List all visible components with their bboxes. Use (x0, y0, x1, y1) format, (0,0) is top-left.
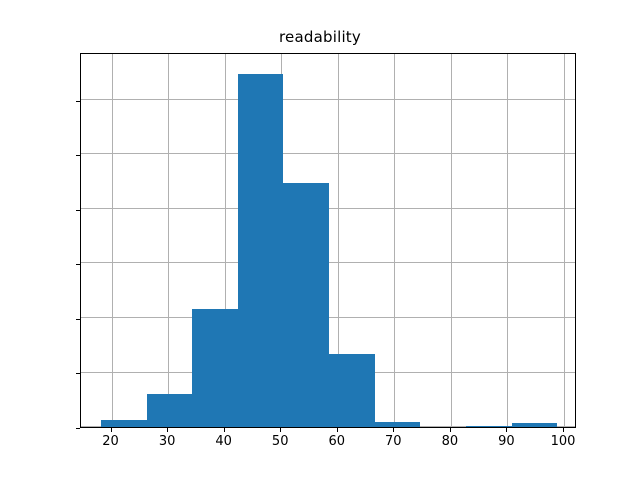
x-tick-mark (280, 428, 281, 432)
x-tick-mark (337, 428, 338, 432)
x-tick-label: 90 (498, 434, 515, 449)
gridline-x-30 (168, 54, 169, 427)
gridline-x-80 (451, 54, 452, 427)
x-tick-label: 60 (328, 434, 345, 449)
histogram-bar (512, 423, 557, 427)
histogram-bar (238, 74, 283, 427)
gridline-y-250 (81, 153, 575, 154)
x-tick-label: 100 (551, 434, 576, 449)
chart-title: readability (0, 28, 640, 46)
x-tick-mark (224, 428, 225, 432)
x-tick-mark (450, 428, 451, 432)
histogram-bar (375, 422, 420, 427)
figure-canvas: readability 050100150200250300 203040506… (0, 0, 640, 480)
x-tick-label: 40 (215, 434, 232, 449)
histogram-bar (283, 183, 329, 427)
x-tick-mark (393, 428, 394, 432)
plot-area (80, 53, 576, 428)
x-tick-mark (506, 428, 507, 432)
gridline-x-100 (564, 54, 565, 427)
x-tick-label: 50 (272, 434, 289, 449)
gridline-x-90 (507, 54, 508, 427)
x-tick-label: 80 (442, 434, 459, 449)
histogram-bar (192, 309, 238, 427)
x-tick-label: 70 (385, 434, 402, 449)
gridline-x-70 (394, 54, 395, 427)
x-tick-label: 20 (102, 434, 119, 449)
x-tick-label: 30 (159, 434, 176, 449)
x-tick-mark (167, 428, 168, 432)
histogram-bar (147, 394, 193, 427)
gridline-y-300 (81, 99, 575, 100)
histogram-bar (329, 354, 375, 427)
histogram-bar (466, 426, 512, 427)
gridline-x-20 (112, 54, 113, 427)
x-tick-mark (111, 428, 112, 432)
y-tick-mark (76, 428, 80, 429)
histogram-bar (101, 420, 146, 427)
x-tick-mark (563, 428, 564, 432)
